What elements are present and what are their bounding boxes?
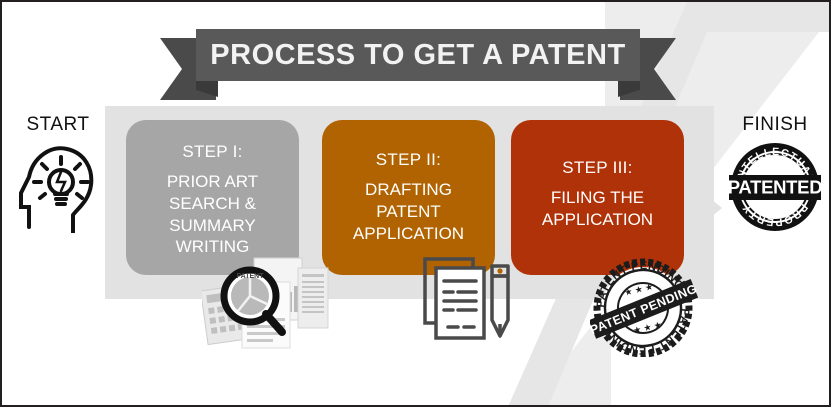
banner-bar: PROCESS TO GET A PATENT — [196, 29, 640, 81]
patented-stamp-icon: INTELLECTUAL PROPERTY PATENTED — [729, 141, 821, 233]
document-search-magnifier-icon: PATENT — [202, 254, 330, 350]
patent-pending-stamp-icon: PATENT PENDING PATENT PENDING ★ ★ ★ ★ ★ … — [590, 255, 698, 357]
documents-pen-icon — [422, 254, 520, 344]
finish-label: FINISH — [742, 114, 807, 136]
step-card-1[interactable]: STEP I: PRIOR ART SEARCH & SUMMARY WRITI… — [126, 120, 299, 275]
step-card-3[interactable]: STEP III: FILING THE APPLICATION — [511, 120, 684, 275]
step-3-label: STEP III: — [562, 158, 632, 178]
step-1-label: STEP I: — [182, 142, 242, 162]
step-2-label: STEP II: — [376, 150, 441, 170]
magnifier-label: PATENT — [237, 273, 265, 280]
step-card-2[interactable]: STEP II: DRAFTING PATENT APPLICATION — [322, 120, 495, 275]
step-1-description: PRIOR ART SEARCH & SUMMARY WRITING — [167, 171, 258, 258]
infographic-canvas: PROCESS TO GET A PATENT STEP I: PRIOR AR… — [0, 0, 831, 407]
stamp-center-text: PATENTED — [729, 177, 821, 198]
head-lightbulb-icon — [19, 141, 97, 233]
page-title: PROCESS TO GET A PATENT — [210, 39, 625, 72]
title-banner: PROCESS TO GET A PATENT — [160, 29, 676, 91]
step-3-description: FILING THE APPLICATION — [542, 187, 653, 231]
step-2-description: DRAFTING PATENT APPLICATION — [353, 179, 464, 244]
start-endcap: START — [14, 114, 102, 233]
finish-endcap: FINISH INTELLECTUAL PROPERTY PATENTED — [725, 114, 825, 233]
start-label: START — [26, 114, 89, 136]
